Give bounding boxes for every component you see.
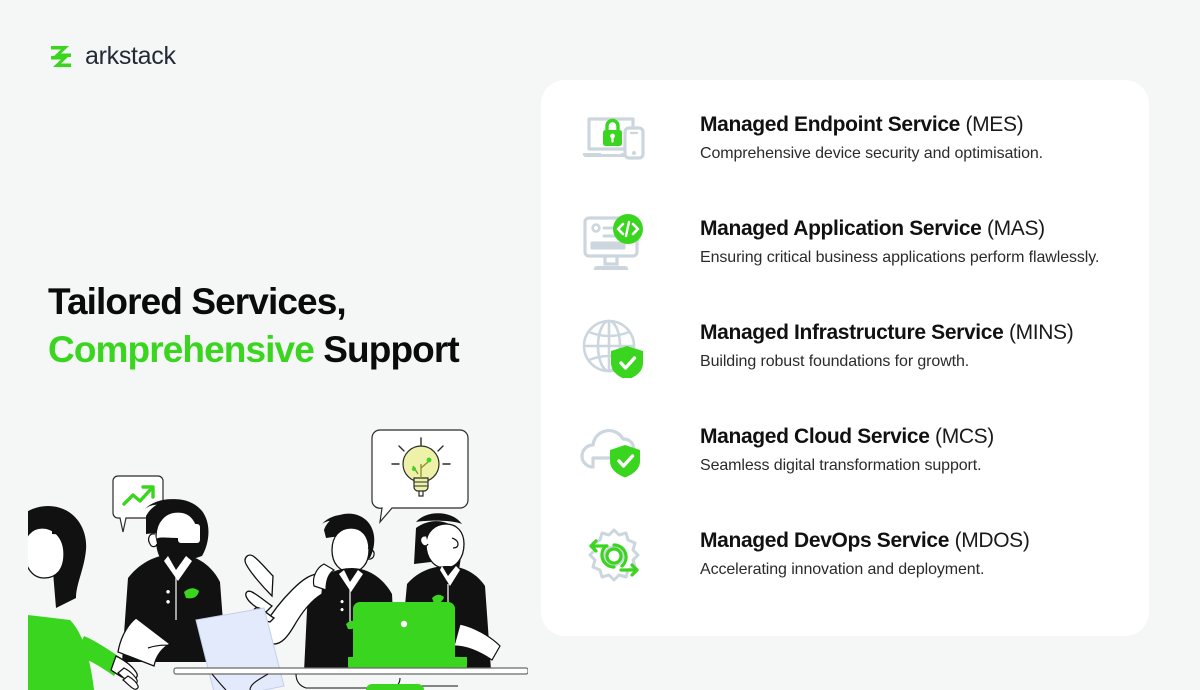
person-left [28, 506, 138, 690]
team-meeting-illustration [28, 418, 528, 690]
headline-line-2: Comprehensive Support [48, 326, 518, 374]
service-acronym: (MCS) [935, 425, 994, 448]
brand-logo[interactable]: arkstack [48, 44, 176, 69]
list-item-text: Managed Endpoint Service (MES) Comprehen… [700, 106, 1043, 164]
services-card: Managed Endpoint Service (MES) Comprehen… [541, 80, 1149, 636]
list-item[interactable]: Managed Infrastructure Service (MINS) Bu… [541, 314, 1149, 418]
arkstack-mark-icon [48, 44, 74, 69]
idea-bubble [372, 430, 468, 522]
list-item[interactable]: Managed Application Service (MAS) Ensuri… [541, 210, 1149, 314]
service-acronym: (MINS) [1009, 321, 1073, 344]
laptop-phone-lock-icon [575, 108, 653, 172]
headline-rest-word: Support [314, 329, 459, 370]
service-description: Building robust foundations for growth. [700, 352, 1073, 372]
service-title: Managed DevOps Service (MDOS) [700, 528, 1029, 553]
cloud-shield-check-icon [575, 420, 653, 484]
service-description: Comprehensive device security and optimi… [700, 144, 1043, 164]
list-item[interactable]: Managed Endpoint Service (MES) Comprehen… [541, 106, 1149, 210]
list-item-text: Managed Infrastructure Service (MINS) Bu… [700, 314, 1073, 372]
list-item-text: Managed Cloud Service (MCS) Seamless dig… [700, 418, 994, 476]
page-title: Tailored Services, Comprehensive Support [48, 278, 518, 375]
service-description: Seamless digital transformation support. [700, 456, 994, 476]
service-acronym: (MAS) [987, 217, 1045, 240]
laptop [348, 602, 467, 670]
service-acronym: (MDOS) [955, 529, 1030, 552]
service-title: Managed Cloud Service (MCS) [700, 424, 994, 449]
gear-loop-arrows-icon [575, 524, 653, 588]
service-title: Managed Endpoint Service (MES) [700, 112, 1043, 137]
list-item-text: Managed Application Service (MAS) Ensuri… [700, 210, 1099, 268]
headline-accent-word: Comprehensive [48, 329, 314, 370]
brand-wordmark: arkstack [85, 44, 176, 69]
service-acronym: (MES) [966, 113, 1024, 136]
monitor-code-icon [575, 212, 653, 276]
list-item-text: Managed DevOps Service (MDOS) Accelerati… [700, 522, 1029, 580]
service-title: Managed Infrastructure Service (MINS) [700, 320, 1073, 345]
list-item[interactable]: Managed Cloud Service (MCS) Seamless dig… [541, 418, 1149, 522]
service-description: Accelerating innovation and deployment. [700, 560, 1029, 580]
list-item[interactable]: Managed DevOps Service (MDOS) Accelerati… [541, 522, 1149, 626]
service-description: Ensuring critical business applications … [700, 248, 1099, 268]
globe-shield-check-icon [575, 316, 653, 380]
services-list: Managed Endpoint Service (MES) Comprehen… [541, 80, 1149, 626]
headline-line-1: Tailored Services, [48, 278, 518, 326]
service-title: Managed Application Service (MAS) [700, 216, 1099, 241]
